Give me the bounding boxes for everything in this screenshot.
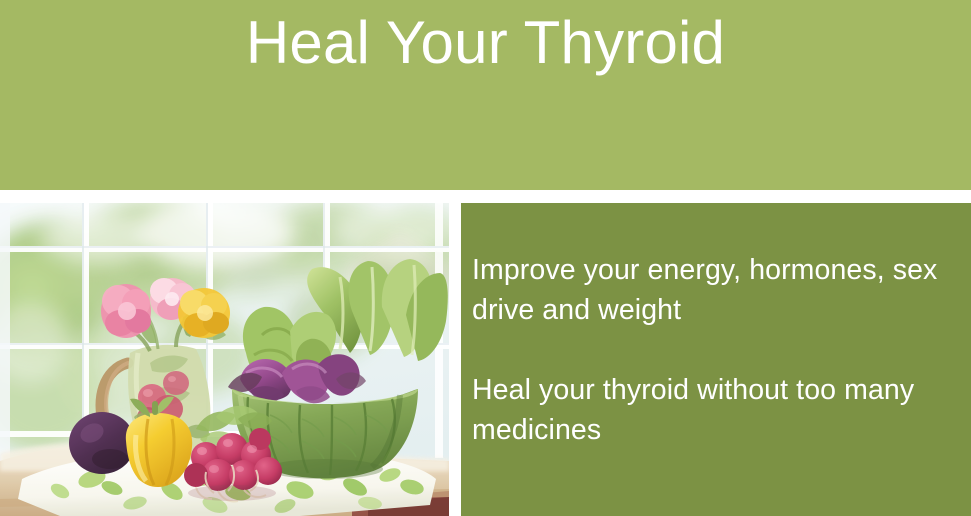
page-title: Heal Your Thyroid xyxy=(0,8,971,77)
title-band: Heal Your Thyroid xyxy=(0,0,971,190)
vegetables-photo xyxy=(0,203,449,516)
vegetables-photo-illustration xyxy=(0,203,449,516)
panel-body: Improve your energy, hormones, sex drive… xyxy=(472,250,950,450)
slide-canvas: Heal Your Thyroid xyxy=(0,0,971,516)
panel-paragraph-1: Improve your energy, hormones, sex drive… xyxy=(472,250,950,330)
text-panel: Improve your energy, hormones, sex drive… xyxy=(461,203,971,516)
panel-paragraph-2: Heal your thyroid without too many medic… xyxy=(472,370,950,450)
paragraph-spacer xyxy=(472,330,950,370)
